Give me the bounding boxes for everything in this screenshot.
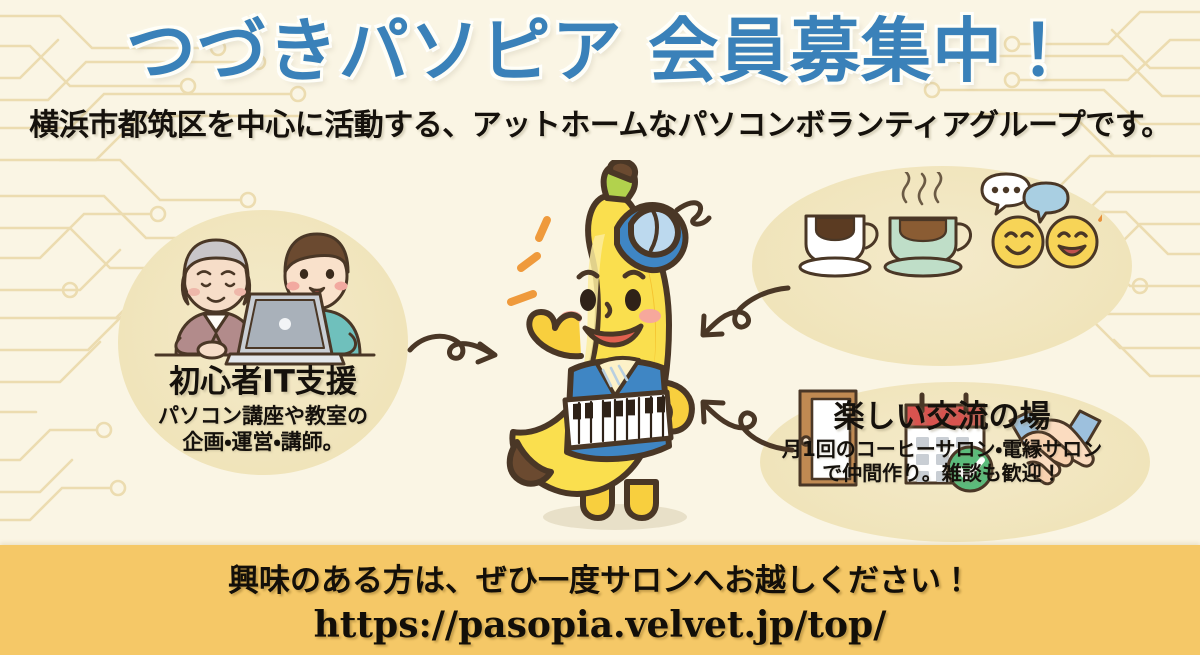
support-heading: 初心者IT支援 [118,365,408,399]
poster-header: つづきパソピア 会員募集中！ 横浜市都筑区を中心に活動する、アットホームなパソコ… [0,0,1200,160]
page-title: つづきパソピア 会員募集中！ [126,14,1074,88]
keyboard-apron-icon [565,392,671,448]
footer-message: 興味のある方は、ぜひ一度サロンへお越しください！ [228,555,972,600]
support-illustration [150,222,380,372]
social-heading: 楽しい交流の場 [742,400,1142,434]
support-body: パソコン講座や教室の 企画・運営・講師。 [118,404,408,455]
support-text-block: 初心者IT支援 パソコン講座や教室の 企画・運営・講師。 [118,365,408,455]
arrow-to-free-left-icon [692,388,802,468]
social-text-block: 楽しい交流の場 月1回のコーヒーサロン・電縁サロン で仲間作り。雑談も歓迎！ [742,400,1142,486]
poster-root: つづきパソピア 会員募集中！ 横浜市都筑区を中心に活動する、アットホームなパソコ… [0,0,1200,655]
arrow-to-mascot-right-icon [400,318,510,384]
arrow-to-social-left-icon [692,278,802,350]
social-illustration [796,172,1102,278]
footer-cta: 興味のある方は、ぜひ一度サロンへお越しください！ https://pasopia… [0,545,1200,655]
social-body: 月1回のコーヒーサロン・電縁サロン で仲間作り。雑談も歓迎！ [742,437,1142,486]
footer-url-link[interactable]: https://pasopia.velvet.jp/top/ [314,604,887,646]
mouse-hat-icon [617,203,709,270]
content-stage: 初心者IT支援 パソコン講座や教室の 企画・運営・講師。 [0,160,1200,545]
page-subtitle: 横浜市都筑区を中心に活動する、アットホームなパソコンボランティアグループです。 [29,100,1171,144]
